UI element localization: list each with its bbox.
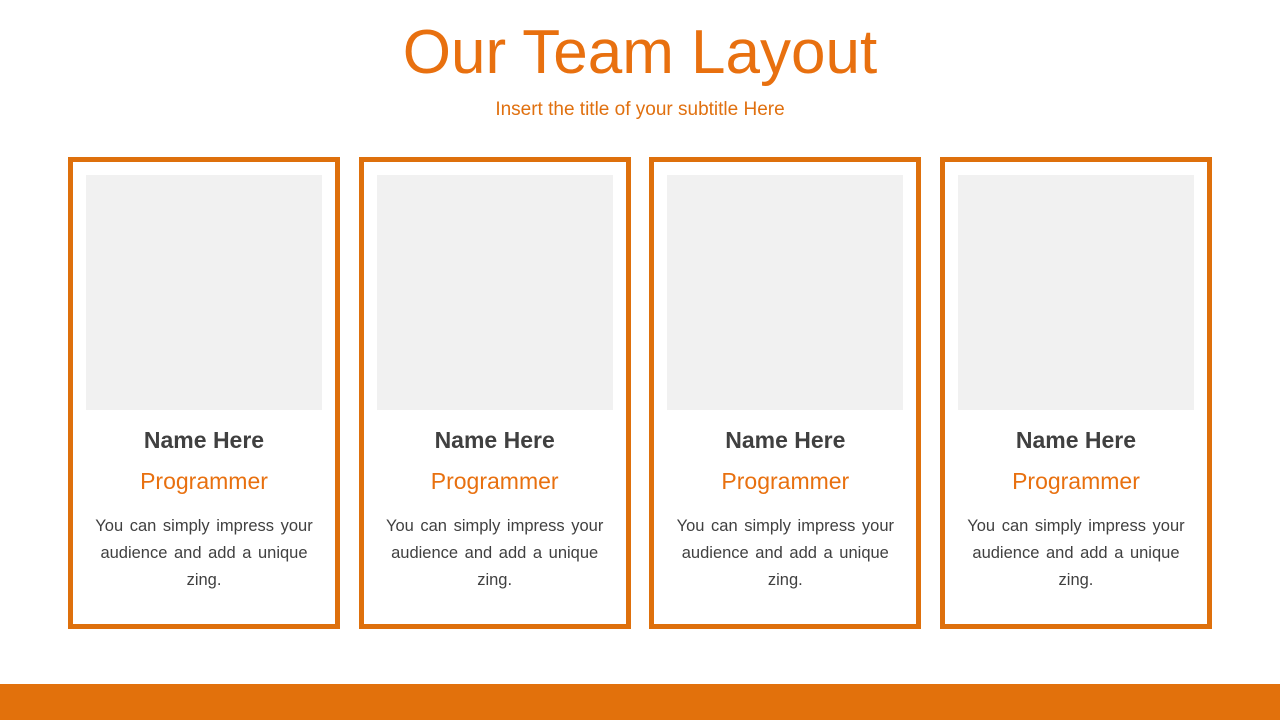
member-photo-placeholder[interactable] [667,175,903,410]
member-photo-placeholder[interactable] [958,175,1194,410]
member-description: You can simply impress your audience and… [958,495,1194,593]
page-title: Our Team Layout [0,0,1280,87]
slide-canvas: Our Team Layout Insert the title of your… [0,0,1280,720]
member-description: You can simply impress your audience and… [377,495,613,593]
member-role: Programmer [721,455,849,496]
member-description: You can simply impress your audience and… [86,495,322,593]
member-name: Name Here [435,426,555,455]
team-card-body: Name Here Programmer You can simply impr… [667,410,903,594]
team-card[interactable]: Name Here Programmer You can simply impr… [359,157,631,629]
member-role: Programmer [431,455,559,496]
team-cards-row: Name Here Programmer You can simply impr… [68,157,1212,629]
team-card[interactable]: Name Here Programmer You can simply impr… [940,157,1212,629]
member-name: Name Here [144,426,264,455]
member-role: Programmer [140,455,268,496]
footer-accent-bar [0,684,1280,720]
team-card-body: Name Here Programmer You can simply impr… [377,410,613,594]
member-photo-placeholder[interactable] [86,175,322,410]
team-card-body: Name Here Programmer You can simply impr… [86,410,322,594]
team-card[interactable]: Name Here Programmer You can simply impr… [649,157,921,629]
page-subtitle: Insert the title of your subtitle Here [0,87,1280,122]
slide-header: Our Team Layout Insert the title of your… [0,0,1280,122]
member-role: Programmer [1012,455,1140,496]
team-card[interactable]: Name Here Programmer You can simply impr… [68,157,340,629]
member-photo-placeholder[interactable] [377,175,613,410]
team-card-body: Name Here Programmer You can simply impr… [958,410,1194,594]
member-name: Name Here [1016,426,1136,455]
member-name: Name Here [725,426,845,455]
member-description: You can simply impress your audience and… [667,495,903,593]
